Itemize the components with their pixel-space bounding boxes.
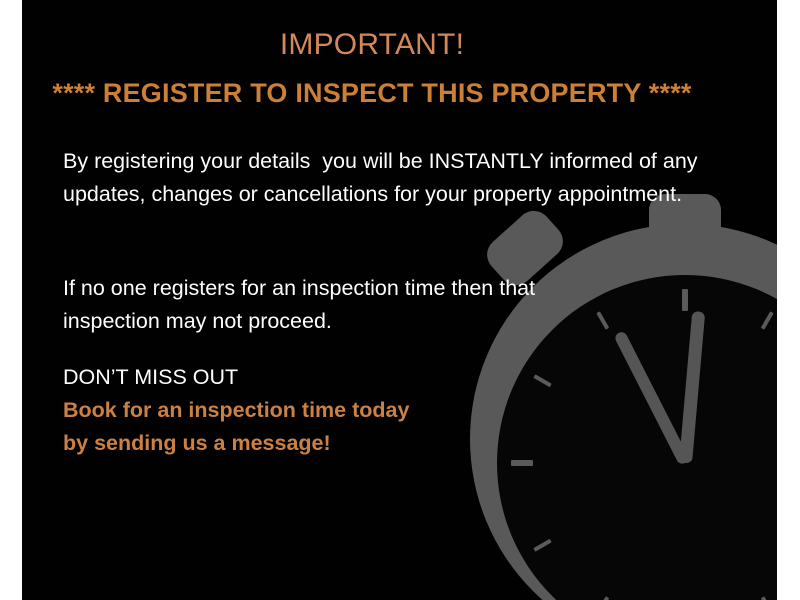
heading-important: IMPORTANT! bbox=[22, 28, 722, 62]
paragraph-registering-details: By registering your details you will be … bbox=[63, 145, 713, 211]
paragraph-no-registration-warning: If no one registers for an inspection ti… bbox=[63, 272, 563, 338]
slide-canvas: IMPORTANT! **** REGISTER TO INSPECT THIS… bbox=[0, 0, 800, 600]
call-to-action-text: Book for an inspection time today by sen… bbox=[63, 394, 543, 460]
content-panel: IMPORTANT! **** REGISTER TO INSPECT THIS… bbox=[22, 0, 777, 600]
heading-register-to-inspect: **** REGISTER TO INSPECT THIS PROPERTY *… bbox=[22, 78, 722, 109]
dont-miss-out-text: DON’T MISS OUT bbox=[63, 361, 238, 394]
text-layer: IMPORTANT! **** REGISTER TO INSPECT THIS… bbox=[22, 0, 777, 600]
